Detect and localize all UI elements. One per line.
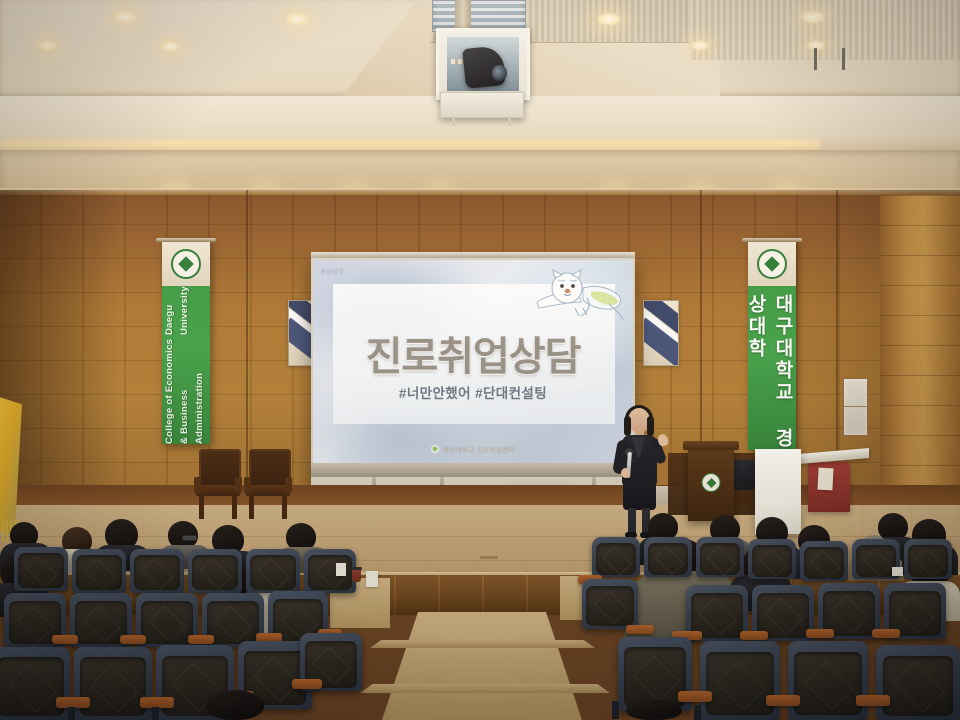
seat-cushion bbox=[596, 543, 636, 575]
corner-column-grooves bbox=[880, 195, 960, 525]
chair-armrest bbox=[235, 477, 242, 493]
seat-cushion bbox=[883, 656, 954, 716]
seat-cushion bbox=[804, 547, 844, 579]
seat-support-stand bbox=[68, 707, 75, 720]
seat-cushion bbox=[192, 555, 237, 590]
banner-right-text: 대구대학교 경상대학 bbox=[748, 286, 796, 458]
seat-armrest bbox=[120, 635, 146, 644]
seat-armrest bbox=[872, 629, 900, 638]
flying-white-tiger-mascot bbox=[531, 268, 625, 326]
seat-cushion bbox=[624, 647, 686, 706]
seat-support-stand bbox=[152, 707, 159, 720]
seat-cushion bbox=[0, 657, 64, 715]
red-chair-leg bbox=[842, 48, 845, 70]
slide-subtitle: #너만안했어 #단대컨설팅 bbox=[313, 382, 633, 402]
seat-cushion bbox=[856, 545, 896, 577]
wall-shadow-left bbox=[0, 190, 120, 530]
handout-paper bbox=[892, 567, 903, 576]
auditorium-seat[interactable] bbox=[696, 537, 744, 577]
stage-floor-marking bbox=[480, 556, 498, 559]
downlight bbox=[284, 12, 310, 26]
presentation-slide: 경상대학 진로취업상담 #너만안했어 #단대컨설팅 bbox=[313, 260, 633, 465]
handout-paper bbox=[366, 571, 378, 587]
frosted-glass-window bbox=[843, 378, 868, 436]
ventilation-grille bbox=[690, 0, 960, 60]
university-emblem bbox=[757, 249, 787, 279]
projector-base-box bbox=[440, 92, 524, 118]
seat-cushion bbox=[700, 543, 740, 575]
seat-cushion bbox=[80, 657, 146, 715]
seat-armrest bbox=[856, 695, 890, 706]
red-chair-leg bbox=[814, 48, 817, 70]
seat-armrest bbox=[626, 625, 654, 634]
seat-cushion bbox=[18, 553, 63, 588]
wall-decoration-panel bbox=[643, 300, 679, 366]
banner-body: 대구대학교 경상대학 bbox=[748, 286, 796, 450]
ceiling-band-lower bbox=[0, 150, 960, 192]
seat-support-stand bbox=[694, 705, 701, 720]
podium-top-surface bbox=[683, 441, 739, 450]
seat-cushion bbox=[794, 652, 861, 715]
stage-wooden-chair bbox=[196, 449, 240, 519]
auditorium-seat[interactable] bbox=[72, 549, 126, 593]
seat-armrest bbox=[678, 691, 712, 702]
screen-bottom-bar bbox=[311, 463, 635, 477]
banner-header bbox=[162, 242, 210, 286]
auditorium-seat[interactable] bbox=[592, 537, 640, 577]
seat-cushion bbox=[648, 543, 688, 575]
auditorium-seat[interactable] bbox=[904, 539, 952, 579]
university-emblem bbox=[171, 249, 201, 279]
cup-lid bbox=[351, 567, 362, 570]
downlight bbox=[690, 40, 710, 51]
seat-cushion bbox=[706, 652, 773, 715]
banner-left-english: College of Economics & Business Administ… bbox=[162, 238, 210, 444]
chair-armrest bbox=[244, 477, 251, 493]
wall-corner-column bbox=[880, 195, 960, 525]
banner-body: College of Economics & Business Administ… bbox=[162, 286, 210, 444]
downlight bbox=[800, 10, 826, 24]
slide-corner-label: 경상대학 bbox=[320, 267, 344, 276]
center-aisle-floor bbox=[382, 612, 582, 720]
auditorium-photo: College of Economics & Business Administ… bbox=[0, 0, 960, 720]
presenter-hand-left bbox=[621, 468, 630, 478]
paper-on-chair bbox=[817, 468, 833, 491]
projector-housing-interior bbox=[447, 37, 519, 91]
projector-leg bbox=[452, 116, 455, 126]
seat-armrest bbox=[740, 631, 768, 640]
auditorium-seat[interactable] bbox=[800, 541, 848, 581]
handout-paper bbox=[336, 563, 346, 576]
banner-header bbox=[748, 242, 796, 286]
slide-title: 진로취업상담 bbox=[313, 324, 633, 382]
auditorium-seat[interactable] bbox=[246, 549, 300, 593]
downlight bbox=[596, 12, 622, 26]
audience-head bbox=[206, 690, 264, 720]
projector-mount-pole bbox=[455, 0, 471, 30]
seat-cushion bbox=[752, 545, 792, 577]
seat-armrest bbox=[52, 635, 78, 644]
banner-left-text: College of Economics & Business Administ… bbox=[162, 286, 210, 454]
banner-right-korean: 대구대학교 경상대학 bbox=[748, 238, 796, 450]
seat-armrest bbox=[292, 679, 322, 689]
seat-armrest bbox=[766, 695, 800, 706]
downlight bbox=[38, 40, 58, 51]
shaft-louvers bbox=[433, 1, 525, 31]
downlight bbox=[112, 10, 138, 24]
auditorium-seat[interactable] bbox=[644, 537, 692, 577]
seat-support-stand bbox=[612, 701, 619, 719]
career-center-logo-icon bbox=[431, 445, 439, 453]
auditorium-seat[interactable] bbox=[748, 539, 796, 579]
projector-leg bbox=[508, 116, 511, 126]
slide-footer-text: 대구대학교 진로취업센터 bbox=[443, 444, 515, 454]
presenter-hair-side bbox=[647, 416, 654, 436]
auditorium-seat[interactable] bbox=[876, 645, 960, 720]
seat-armrest bbox=[188, 635, 214, 644]
stage-wooden-chair bbox=[246, 449, 290, 519]
seat-cushion bbox=[141, 601, 193, 644]
seat-cushion bbox=[908, 545, 948, 577]
slide-footer: 대구대학교 진로취업센터 bbox=[313, 444, 633, 454]
auditorium-seat[interactable] bbox=[14, 547, 68, 591]
seat-armrest bbox=[806, 629, 834, 638]
university-emblem bbox=[702, 473, 721, 492]
auditorium-seat[interactable] bbox=[188, 549, 242, 593]
auditorium-seat[interactable] bbox=[582, 579, 638, 629]
paper-cup bbox=[352, 569, 361, 582]
downlight bbox=[160, 41, 180, 52]
auditorium-seat[interactable] bbox=[700, 641, 780, 720]
chair-armrest bbox=[194, 477, 201, 493]
auditorium-seat[interactable] bbox=[0, 647, 70, 720]
auditorium-seat[interactable] bbox=[304, 549, 356, 593]
seat-cushion bbox=[207, 601, 259, 644]
auditorium-seat[interactable] bbox=[130, 549, 184, 593]
presenter-hair-side bbox=[624, 416, 631, 436]
ceiling-projector bbox=[436, 28, 530, 100]
seat-cushion bbox=[250, 555, 295, 590]
chair-armrest bbox=[285, 477, 292, 493]
seat-cushion bbox=[76, 555, 121, 590]
right-seating-section bbox=[560, 505, 960, 720]
eyeglasses bbox=[182, 535, 197, 541]
seat-cushion bbox=[134, 555, 179, 590]
auditorium-seat[interactable] bbox=[74, 647, 152, 720]
seat-cushion bbox=[586, 586, 633, 626]
left-seating-section bbox=[0, 515, 400, 720]
auditorium-seat[interactable] bbox=[788, 641, 868, 720]
audience-head bbox=[626, 700, 682, 720]
